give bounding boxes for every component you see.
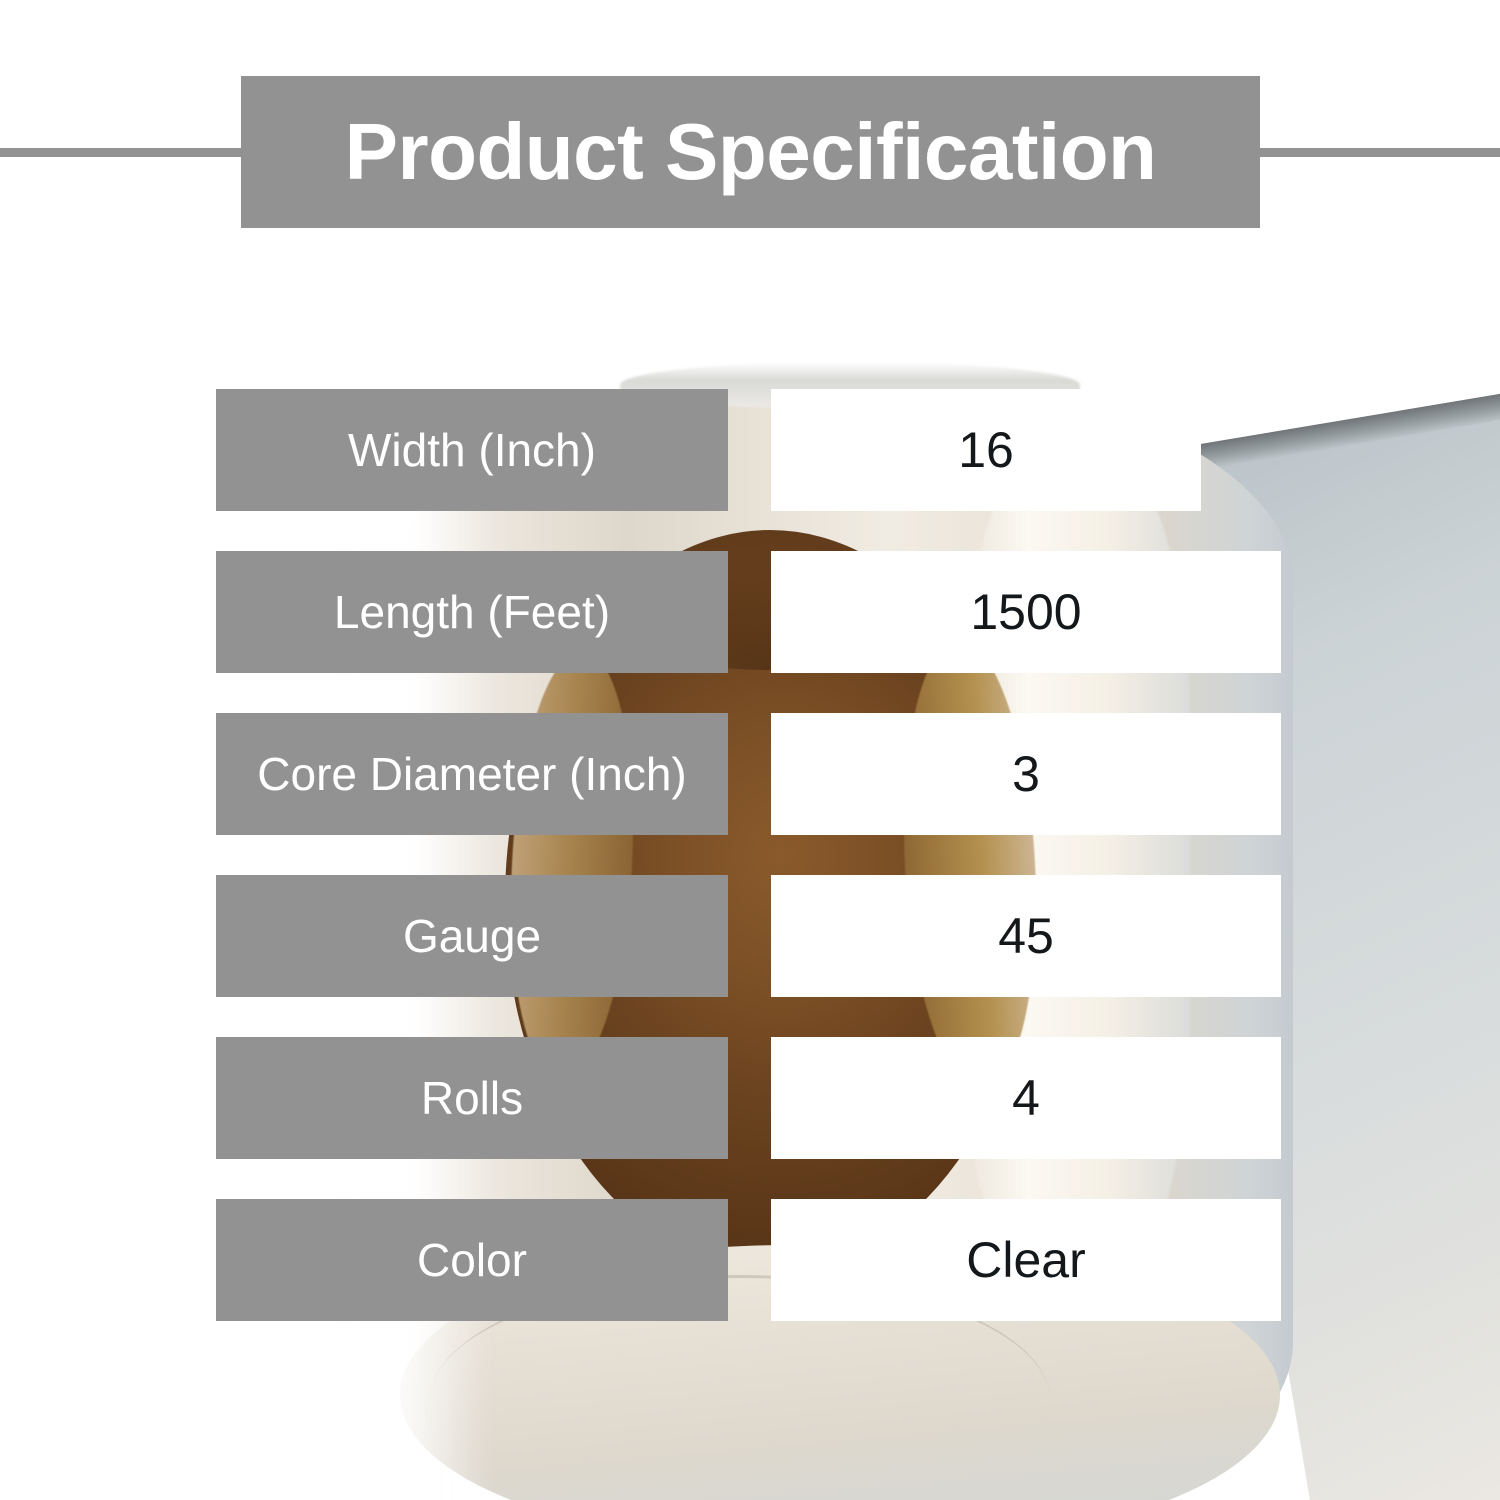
cardboard-core-lip-right: [893, 637, 1046, 1093]
spec-value-rolls: 4: [771, 1037, 1281, 1159]
table-row: Core Diameter (Inch) 3: [0, 713, 1500, 835]
spec-label-color: Color: [216, 1199, 728, 1321]
spec-label-length: Length (Feet): [216, 551, 728, 673]
spec-label-gauge: Gauge: [216, 875, 728, 997]
table-row: Rolls 4: [0, 1037, 1500, 1159]
page-title: Product Specification: [345, 112, 1157, 192]
table-row: Color Clear: [0, 1199, 1500, 1321]
table-row: Length (Feet) 1500: [0, 551, 1500, 673]
product-specification-infographic: Product Specification Width (Inch) 16 Le…: [0, 0, 1500, 1500]
spec-label-rolls: Rolls: [216, 1037, 728, 1159]
spec-value-width: 16: [771, 389, 1201, 511]
table-row: Width (Inch) 16: [0, 389, 1500, 511]
table-row: Gauge 45: [0, 875, 1500, 997]
spec-value-color: Clear: [771, 1199, 1281, 1321]
spec-label-core-diameter: Core Diameter (Inch): [216, 713, 728, 835]
spec-label-width: Width (Inch): [216, 389, 728, 511]
title-banner: Product Specification: [241, 76, 1260, 228]
spec-value-core-diameter: 3: [771, 713, 1281, 835]
title-rule-left: [0, 148, 244, 157]
spec-value-length: 1500: [771, 551, 1281, 673]
title-rule-right: [1257, 148, 1500, 157]
spec-value-gauge: 45: [771, 875, 1281, 997]
